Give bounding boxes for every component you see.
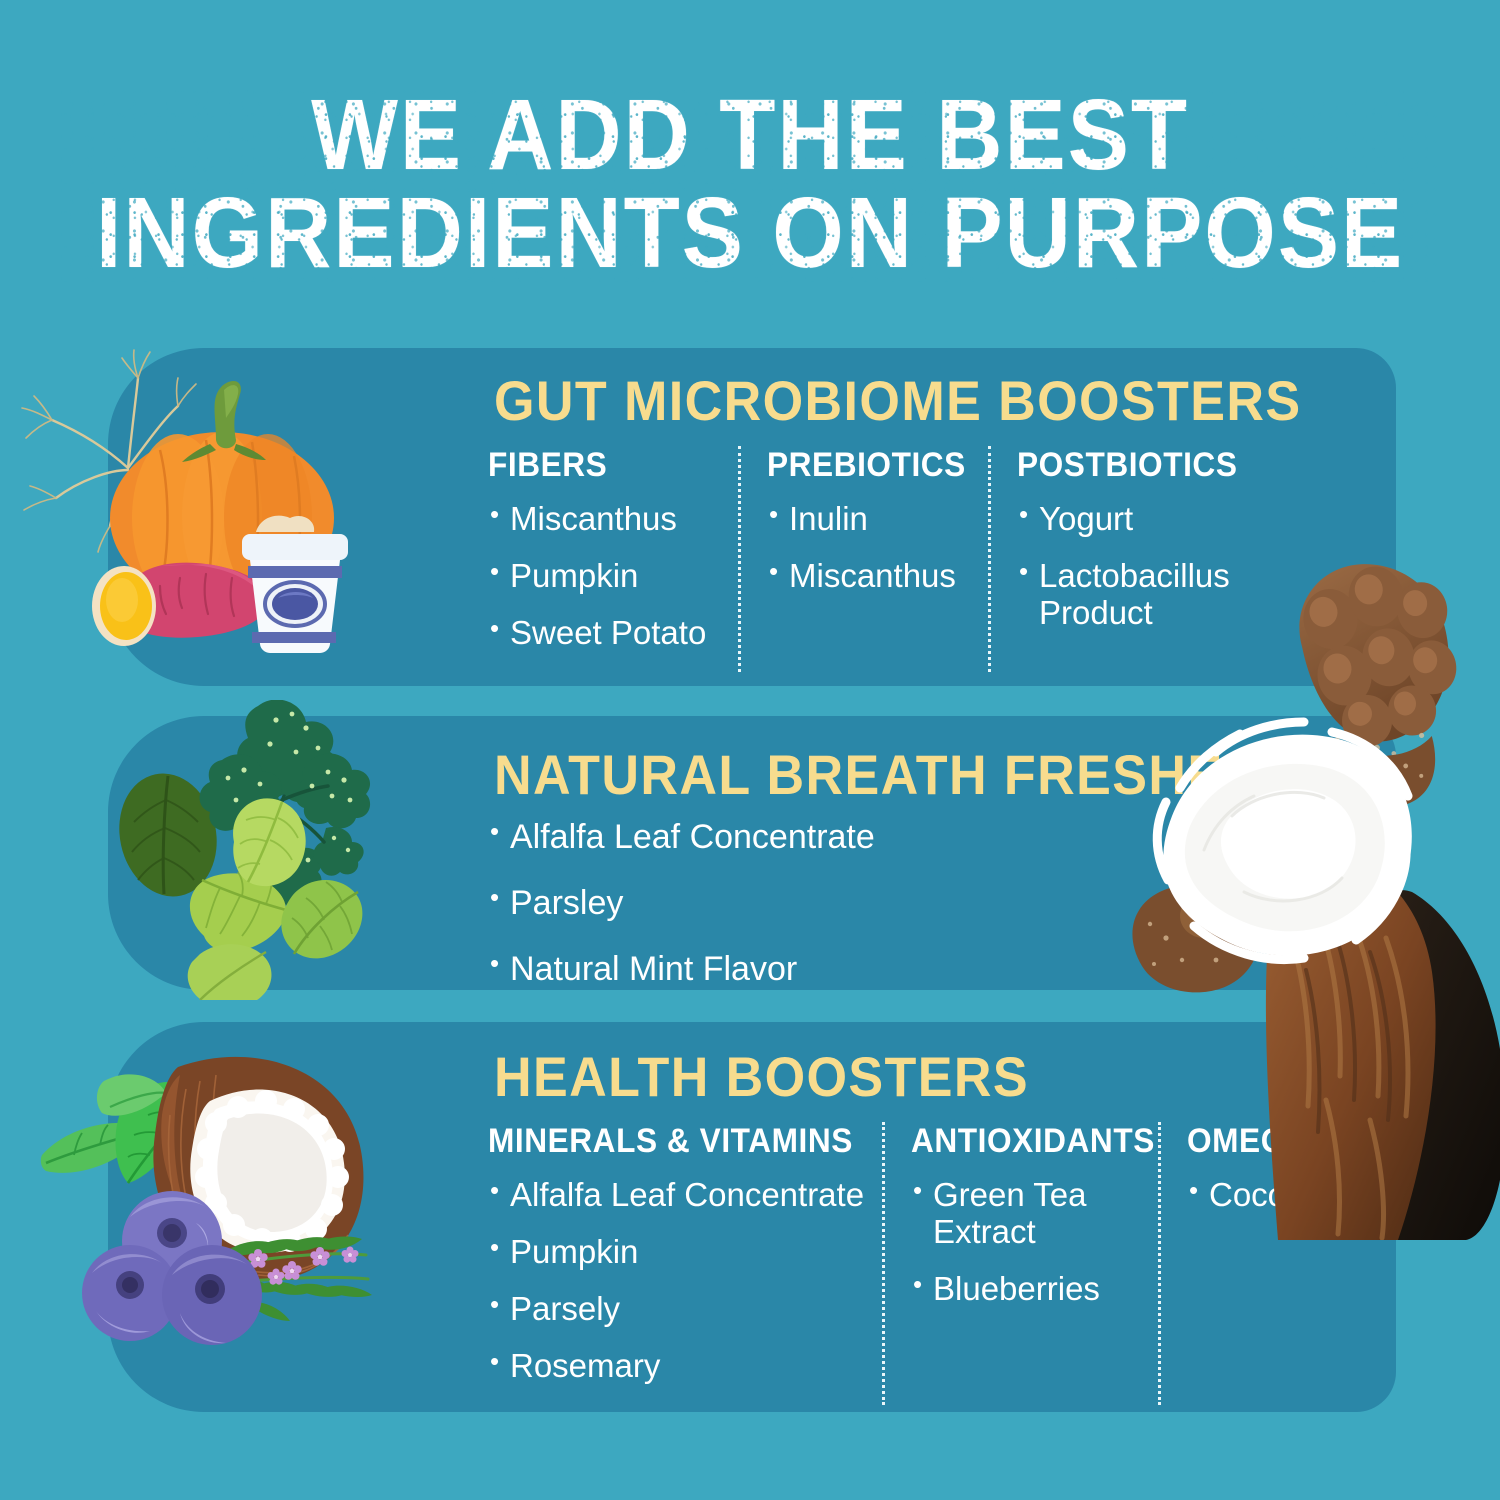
column-group-health-boosters: MINERALS & VITAMINS Alfalfa Leaf Concent…	[488, 1122, 1488, 1405]
column-antioxidants: ANTIOXIDANTS Green Tea Extract Blueberri…	[882, 1122, 1158, 1405]
list-antioxidants: Green Tea Extract Blueberries	[911, 1177, 1158, 1308]
list-item: Sweet Potato	[488, 615, 738, 652]
list-fibers: Miscanthus Pumpkin Sweet Potato	[488, 501, 738, 652]
column-omega-fatty-acids: OMEGA FATTY ACIDS Coconut Oil	[1158, 1122, 1488, 1405]
list-minerals-vitamins: Alfalfa Leaf Concentrate Pumpkin Parsely…	[488, 1177, 882, 1385]
list-item: Miscanthus	[488, 501, 738, 538]
column-head-fibers: FIBERS	[488, 446, 721, 485]
card-natural-breath-fresheners: NATURAL BREATH FRESHENERS Alfalfa Leaf C…	[108, 716, 1396, 990]
list-item: Parsely	[488, 1291, 882, 1328]
list-item: Rosemary	[488, 1348, 882, 1385]
list-item: Natural Mint Flavor	[488, 950, 875, 988]
column-group-gut-microbiome-boosters: FIBERS Miscanthus Pumpkin Sweet Potato P…	[488, 446, 1268, 672]
list-item: Blueberries	[911, 1271, 1158, 1308]
list-item: Parsley	[488, 884, 875, 922]
list-item: Coconut Oil	[1187, 1177, 1488, 1214]
infographic-canvas: WE ADD THE BEST INGREDIENTS ON PURPOSE G…	[0, 0, 1500, 1500]
page-title-line-1: WE ADD THE BEST	[60, 86, 1440, 184]
card-heading-health-boosters: HEALTH BOOSTERS	[494, 1044, 1029, 1109]
card-heading-gut-microbiome-boosters: GUT MICROBIOME BOOSTERS	[494, 368, 1302, 433]
column-postbiotics: POSTBIOTICS Yogurt Lactobacillus Product	[988, 446, 1268, 672]
list-item: Alfalfa Leaf Concentrate	[488, 818, 875, 856]
list-item: Inulin	[767, 501, 988, 538]
column-head-omega-fatty-acids: OMEGA FATTY ACIDS	[1187, 1122, 1467, 1161]
page-title: WE ADD THE BEST INGREDIENTS ON PURPOSE	[60, 86, 1440, 282]
column-fibers: FIBERS Miscanthus Pumpkin Sweet Potato	[488, 446, 738, 672]
column-minerals-vitamins: MINERALS & VITAMINS Alfalfa Leaf Concent…	[488, 1122, 882, 1405]
column-prebiotics: PREBIOTICS Inulin Miscanthus	[738, 446, 988, 672]
list-omega-fatty-acids: Coconut Oil	[1187, 1177, 1488, 1214]
page-title-line-2: INGREDIENTS ON PURPOSE	[60, 184, 1440, 282]
list-item: Green Tea Extract	[911, 1177, 1158, 1251]
list-group-natural-breath-fresheners: Alfalfa Leaf Concentrate Parsley Natural…	[488, 818, 875, 1016]
list-breath-fresheners: Alfalfa Leaf Concentrate Parsley Natural…	[488, 818, 875, 988]
list-item: Pumpkin	[488, 558, 738, 595]
column-head-antioxidants: ANTIOXIDANTS	[911, 1122, 1141, 1161]
card-heading-natural-breath-fresheners: NATURAL BREATH FRESHENERS	[494, 742, 1374, 807]
list-item: Alfalfa Leaf Concentrate	[488, 1177, 882, 1214]
list-item: Yogurt	[1017, 501, 1268, 538]
list-item: Miscanthus	[767, 558, 988, 595]
list-prebiotics: Inulin Miscanthus	[767, 501, 988, 595]
list-item: Lactobacillus Product	[1017, 558, 1268, 632]
column-head-prebiotics: PREBIOTICS	[767, 446, 973, 485]
card-gut-microbiome-boosters: GUT MICROBIOME BOOSTERS FIBERS Miscanthu…	[108, 348, 1396, 686]
card-health-boosters: HEALTH BOOSTERS MINERALS & VITAMINS Alfa…	[108, 1022, 1396, 1412]
column-head-minerals-vitamins: MINERALS & VITAMINS	[488, 1122, 854, 1161]
list-item: Pumpkin	[488, 1234, 882, 1271]
list-postbiotics: Yogurt Lactobacillus Product	[1017, 501, 1268, 632]
column-head-postbiotics: POSTBIOTICS	[1017, 446, 1250, 485]
